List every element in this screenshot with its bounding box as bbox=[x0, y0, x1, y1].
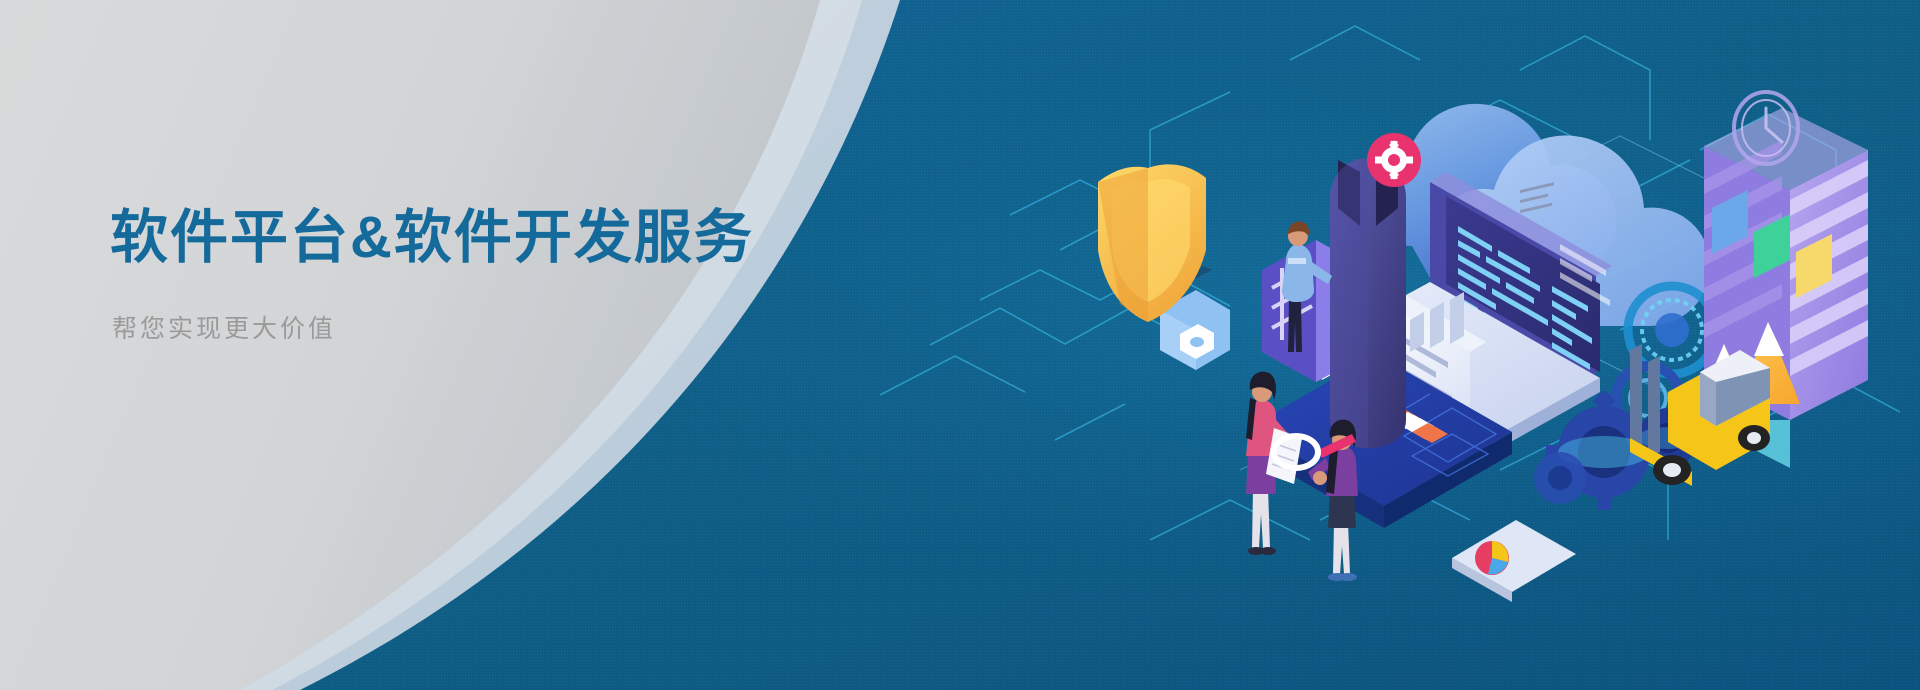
analyst-figure-pink bbox=[1246, 372, 1302, 555]
page-title: 软件平台&软件开发服务 bbox=[110, 205, 870, 272]
wrench-icon bbox=[1330, 158, 1406, 448]
hero-banner: 软件平台&软件开发服务 帮您实现更大价值 bbox=[0, 0, 1920, 690]
gear-badge-icon bbox=[1367, 133, 1421, 187]
page-subtitle: 帮您实现更大价值 bbox=[112, 314, 870, 344]
banner-copy: 软件平台&软件开发服务 帮您实现更大价值 bbox=[110, 205, 870, 344]
illustration-scene bbox=[0, 0, 1920, 690]
